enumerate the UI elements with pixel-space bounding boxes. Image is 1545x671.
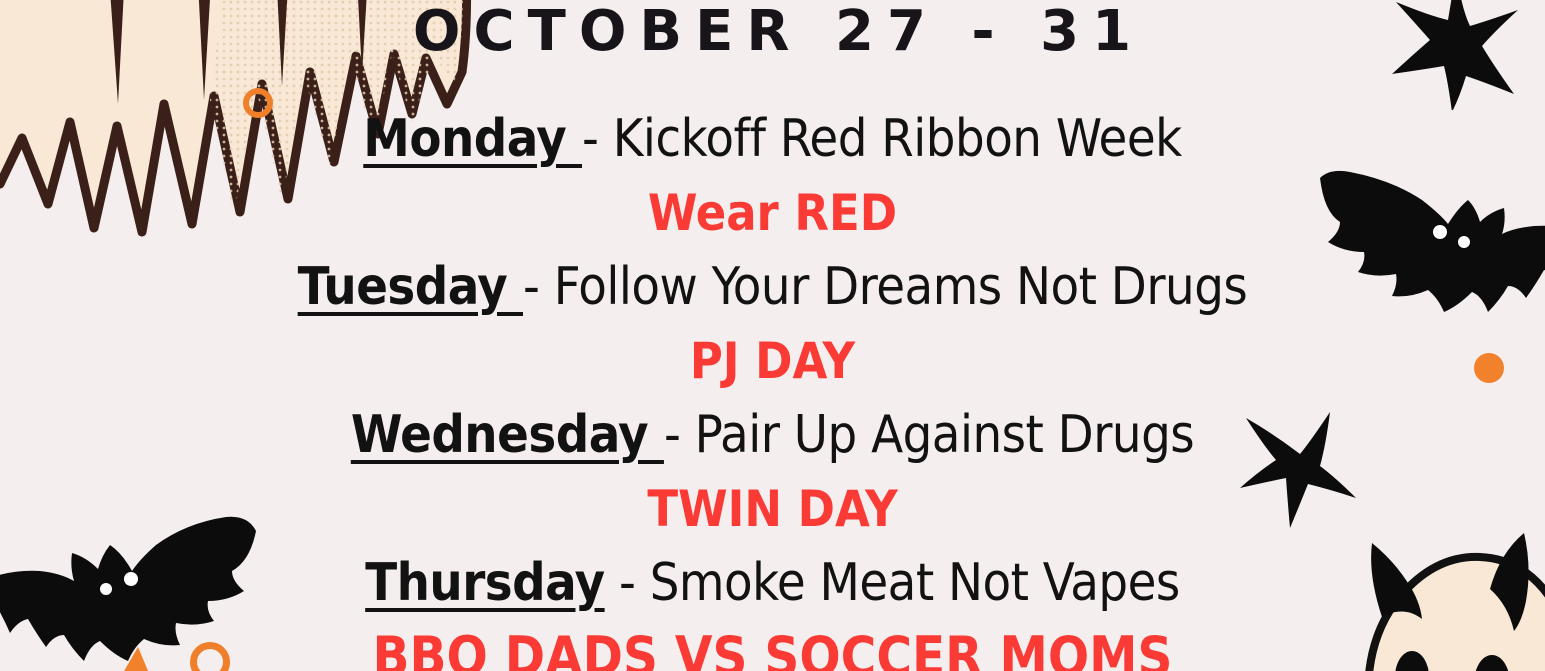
- day-line: Tuesday - Follow Your Dreams Not Drugs: [0, 250, 1545, 324]
- day-theme-label: BBQ DADS VS SOCCER MOMS: [0, 620, 1545, 671]
- day-name-label: Monday: [363, 109, 582, 169]
- day-line: Wednesday - Pair Up Against Drugs: [0, 398, 1545, 472]
- day-activity-label: - Kickoff Red Ribbon Week: [582, 109, 1182, 169]
- schedule-item-tuesday: Tuesday - Follow Your Dreams Not Drugs P…: [0, 250, 1545, 398]
- day-line: Thursday - Smoke Meat Not Vapes: [0, 546, 1545, 620]
- day-name-label: Wednesday: [351, 405, 664, 465]
- day-line: Monday - Kickoff Red Ribbon Week: [0, 102, 1545, 176]
- day-theme-label: Wear RED: [0, 176, 1545, 250]
- day-theme-label: TWIN DAY: [0, 472, 1545, 546]
- poster-content: OCTOBER 27 - 31 Monday - Kickoff Red Rib…: [0, 0, 1545, 671]
- schedule-item-thursday: Thursday - Smoke Meat Not Vapes BBQ DADS…: [0, 546, 1545, 671]
- day-activity-label: - Pair Up Against Drugs: [664, 405, 1194, 465]
- schedule-item-wednesday: Wednesday - Pair Up Against Drugs TWIN D…: [0, 398, 1545, 546]
- day-name-label: Thursday: [365, 553, 604, 613]
- page-title: OCTOBER 27 - 31: [12, 0, 1545, 60]
- poster-canvas: OCTOBER 27 - 31 Monday - Kickoff Red Rib…: [0, 0, 1545, 671]
- day-theme-label: PJ DAY: [0, 324, 1545, 398]
- schedule-list: Monday - Kickoff Red Ribbon Week Wear RE…: [0, 102, 1545, 671]
- day-activity-label: - Smoke Meat Not Vapes: [605, 553, 1180, 613]
- day-name-label: Tuesday: [298, 257, 523, 317]
- schedule-item-monday: Monday - Kickoff Red Ribbon Week Wear RE…: [0, 102, 1545, 250]
- day-activity-label: - Follow Your Dreams Not Drugs: [523, 257, 1247, 317]
